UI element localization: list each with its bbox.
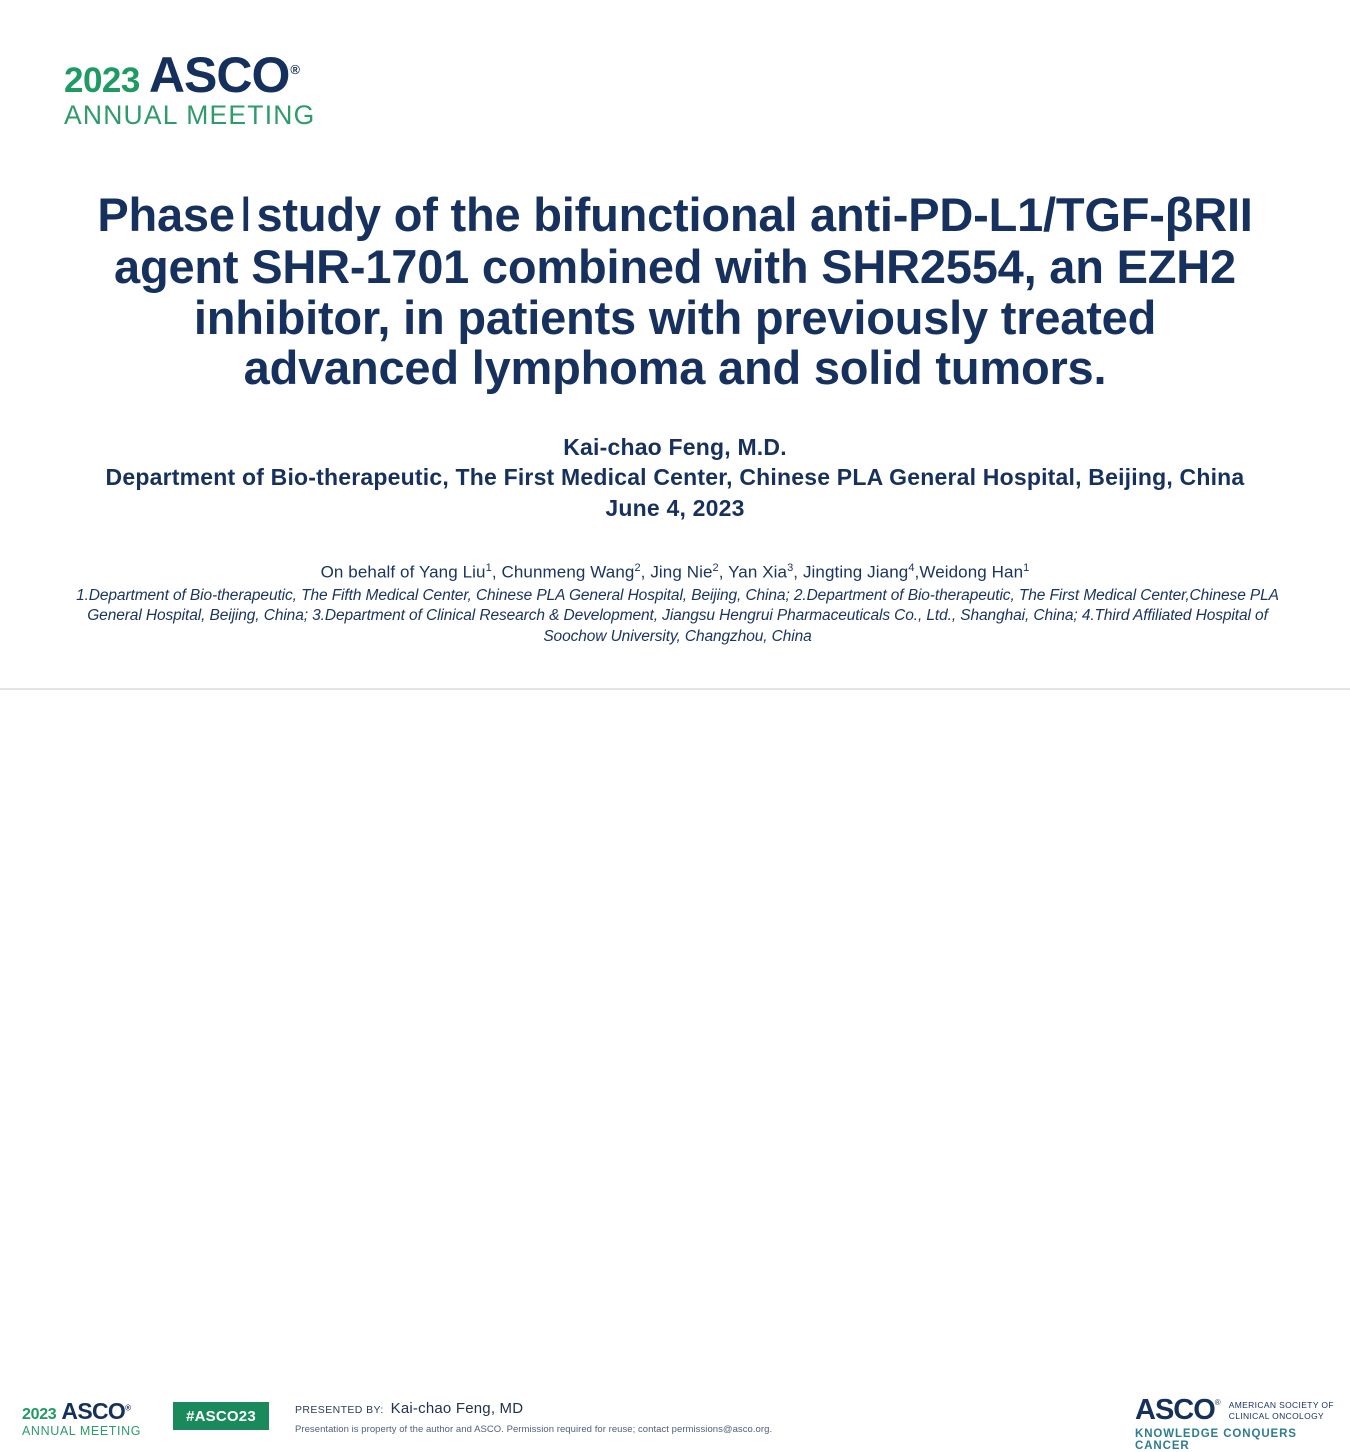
logo-year-text: 2023 xyxy=(64,63,140,98)
title-line1-after: study of the bifunctional anti-PD-L1/TGF… xyxy=(256,188,1252,241)
presented-by-label: PRESENTED BY: xyxy=(295,1404,384,1416)
hashtag-badge[interactable]: #ASCO23 xyxy=(173,1402,269,1430)
asco-society-fullname-line1: AMERICAN SOCIETY OF xyxy=(1229,1400,1334,1410)
registered-trademark-icon: ® xyxy=(290,62,299,77)
asco-society-logo-top-row: ASCO ® AMERICAN SOCIETY OF CLINICAL ONCO… xyxy=(1135,1396,1350,1425)
coauthor-name-1: Chunmeng Wang xyxy=(501,563,634,582)
asco-society-logo: ASCO ® AMERICAN SOCIETY OF CLINICAL ONCO… xyxy=(1135,1396,1350,1452)
presented-by-block: PRESENTED BY: Kai-chao Feng, MD Presenta… xyxy=(295,1400,815,1435)
coauthor-name-4: Jingting Jiang xyxy=(803,563,908,582)
logo-brand-word: ASCO xyxy=(149,47,289,103)
logo-brand-text: ASCO® xyxy=(149,50,299,100)
footer-registered-trademark-icon: ® xyxy=(125,1403,130,1412)
presented-by-name: Kai-chao Feng, MD xyxy=(391,1400,524,1417)
title-roman-numeral: Ⅰ xyxy=(235,190,257,242)
footer-asco-annual-meeting-logo: 2023 ASCO® ANNUAL MEETING xyxy=(22,1400,141,1438)
presenter-department: Department of Bio-therapeutic, The First… xyxy=(60,462,1290,492)
asco-society-fullname-line2: CLINICAL ONCOLOGY xyxy=(1229,1411,1324,1421)
presented-by-line: PRESENTED BY: Kai-chao Feng, MD xyxy=(295,1400,815,1417)
coauthor-name-2: Jing Nie xyxy=(650,563,712,582)
footer-logo-brand-word: ASCO xyxy=(61,1398,125,1424)
asco-society-tagline: KNOWLEDGE CONQUERS CANCER xyxy=(1135,1429,1350,1452)
asco-society-brand-text: ASCO xyxy=(1135,1396,1215,1425)
coauthor-sep-3: , xyxy=(793,563,803,582)
logo-top-row: 2023 ASCO® xyxy=(64,50,334,100)
title-line2: agent SHR-1701 combined with SHR2554, an… xyxy=(114,240,1236,293)
coauthors-line: On behalf of Yang Liu1, Chunmeng Wang2, … xyxy=(60,561,1290,584)
slide-root: 2023 ASCO® ANNUAL MEETING PhaseⅠstudy of… xyxy=(0,0,1350,760)
presentation-title: PhaseⅠstudy of the bifunctional anti-PD-… xyxy=(95,190,1255,394)
title-line4: lymphoma and solid tumors. xyxy=(472,341,1107,394)
footer-logo-year-text: 2023 xyxy=(22,1407,56,1423)
coauthor-sup-5: 1 xyxy=(1023,562,1029,574)
coauthor-name-3: Yan Xia xyxy=(728,563,787,582)
affiliations-block: 1.Department of Bio-therapeutic, The Fif… xyxy=(70,586,1285,647)
slide-footer: 2023 ASCO® ANNUAL MEETING #ASCO23 PRESEN… xyxy=(0,690,1350,760)
coauthor-name-5: Weidong Han xyxy=(919,563,1023,582)
coauthor-sep-1: , xyxy=(641,563,651,582)
asco-society-registered-trademark-icon: ® xyxy=(1215,1399,1221,1407)
title-line1-before: Phase xyxy=(97,188,234,241)
footer-logo-brand-text: ASCO® xyxy=(61,1400,130,1423)
footer-logo-top-row: 2023 ASCO® xyxy=(22,1400,141,1423)
coauthor-sep-2: , xyxy=(719,563,728,582)
coauthors-prefix: On behalf of xyxy=(321,563,419,582)
hashtag-badge-label: #ASCO23 xyxy=(186,1408,256,1425)
presenter-block: Kai-chao Feng, M.D. Department of Bio-th… xyxy=(60,432,1290,523)
asco-society-fullname: AMERICAN SOCIETY OF CLINICAL ONCOLOGY xyxy=(1229,1400,1334,1422)
asco-annual-meeting-logo: 2023 ASCO® ANNUAL MEETING xyxy=(64,50,334,129)
coauthor-name-0: Yang Liu xyxy=(419,563,486,582)
logo-subtitle-text: ANNUAL MEETING xyxy=(64,102,334,129)
affiliation-line-1: 1.Department of Bio-therapeutic, The Fif… xyxy=(76,587,1136,604)
copyright-disclaimer: Presentation is property of the author a… xyxy=(295,1424,815,1435)
presenter-name: Kai-chao Feng, M.D. xyxy=(60,432,1290,462)
footer-logo-subtitle-text: ANNUAL MEETING xyxy=(22,1425,141,1438)
presentation-date: June 4, 2023 xyxy=(60,493,1290,523)
